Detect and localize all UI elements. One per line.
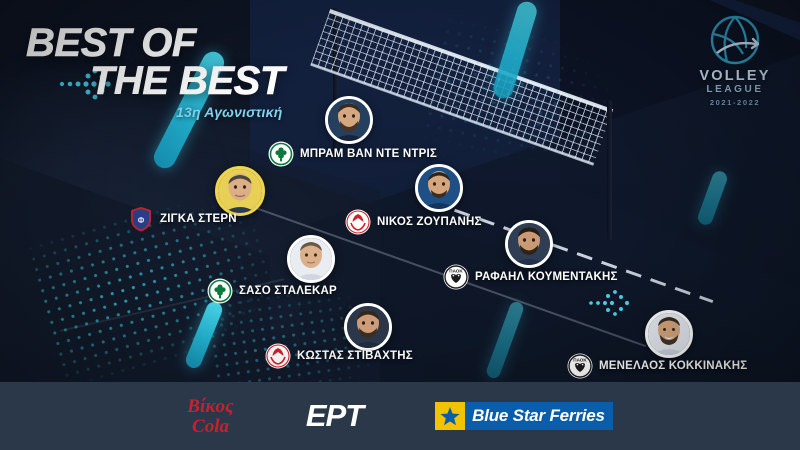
shield-crest-badge: Φ [128,206,154,232]
player-label-row: Φ ΖΙΓΚΑ ΣΤΕΡΝ [128,206,237,232]
player-label-row: ΠΑΟΚ ΜΕΝΕΛΑΟΣ ΚΟΚΚΙΝΑΚΗΣ [567,353,747,379]
paok-eagle-badge: ΠΑΟΚ [443,264,469,290]
sponsor-ert[interactable]: ΕΡΤ [306,398,363,434]
player-label-row: ΣΑΣΟ ΣΤΑΛΕΚΑΡ [207,278,337,304]
paok-eagle-badge: ΠΑΟΚ [567,353,593,379]
player-label-row: ΠΑΟΚ ΡΑΦΑΗΛ ΚΟΥΜΕΝΤΑΚΗΣ [443,264,618,290]
league-season: 2021-2022 [692,99,778,107]
svg-text:ΠΑΟΚ: ΠΑΟΚ [573,358,587,363]
player-name: ΜΠΡΑΜ ΒΑΝ ΝΤΕ ΝΤΡΙΣ [300,148,437,160]
player-label-row: ΚΩΣΤΑΣ ΣΤΙΒΑΧΤΗΣ [265,343,413,369]
olympiacos-laurel-badge [345,209,371,235]
player-label-row: ΝΙΚΟΣ ΖΟΥΠΑΝΗΣ [345,209,482,235]
player-avatar [325,96,373,144]
panathinaikos-clover-badge [268,141,294,167]
player-name: ΡΑΦΑΗΛ ΚΟΥΜΕΝΤΑΚΗΣ [475,271,618,283]
sponsor-blue-star-ferries[interactable]: Blue Star Ferries [435,402,613,430]
vikos-line-2: Cola [187,417,234,436]
svg-text:ΠΑΟΚ: ΠΑΟΚ [449,269,463,274]
svg-text:Φ: Φ [138,216,145,225]
title-line-1: BEST OF [26,24,356,62]
volley-league-logo: VOLLEY LEAGUE 2021-2022 [692,14,778,107]
volleyball-icon [709,14,761,66]
title-block: BEST OF THE BEST 13η Αγωνιστική [26,24,356,120]
olympiacos-laurel-badge [265,343,291,369]
player-name: ΣΑΣΟ ΣΤΑΛΕΚΑΡ [239,285,337,297]
vikos-line-1: Βίκος [187,397,234,416]
player-name: ΚΩΣΤΑΣ ΣΤΙΒΑΧΤΗΣ [297,350,413,362]
poster-canvas: BEST OF THE BEST 13η Αγωνιστική VOLLEY L… [0,0,800,450]
league-name: VOLLEY [692,69,778,84]
player-name: ΝΙΚΟΣ ΖΟΥΠΑΝΗΣ [377,216,482,228]
ert-label: ΕΡΤ [306,398,363,434]
sponsor-vikos-cola[interactable]: Βίκος Cola [187,397,234,436]
blue-star-label: Blue Star Ferries [472,406,605,426]
player-label-row: ΜΠΡΑΜ ΒΑΝ ΝΤΕ ΝΤΡΙΣ [268,141,437,167]
title-line-2: THE BEST [90,62,356,100]
panathinaikos-clover-badge [207,278,233,304]
league-subname: LEAGUE [692,85,778,96]
player-avatar [645,310,693,358]
player-avatar [415,164,463,212]
player-avatar [287,235,335,283]
sponsor-bar: Βίκος Cola ΕΡΤ Blue Star Ferries [0,382,800,450]
dotted-arrow-right-icon [588,288,644,318]
player-name: ΖΙΓΚΑ ΣΤΕΡΝ [160,213,237,225]
player-avatar [505,220,553,268]
star-icon [435,402,465,430]
player-name: ΜΕΝΕΛΑΟΣ ΚΟΚΚΙΝΑΚΗΣ [599,360,747,372]
net-pole [607,100,612,240]
